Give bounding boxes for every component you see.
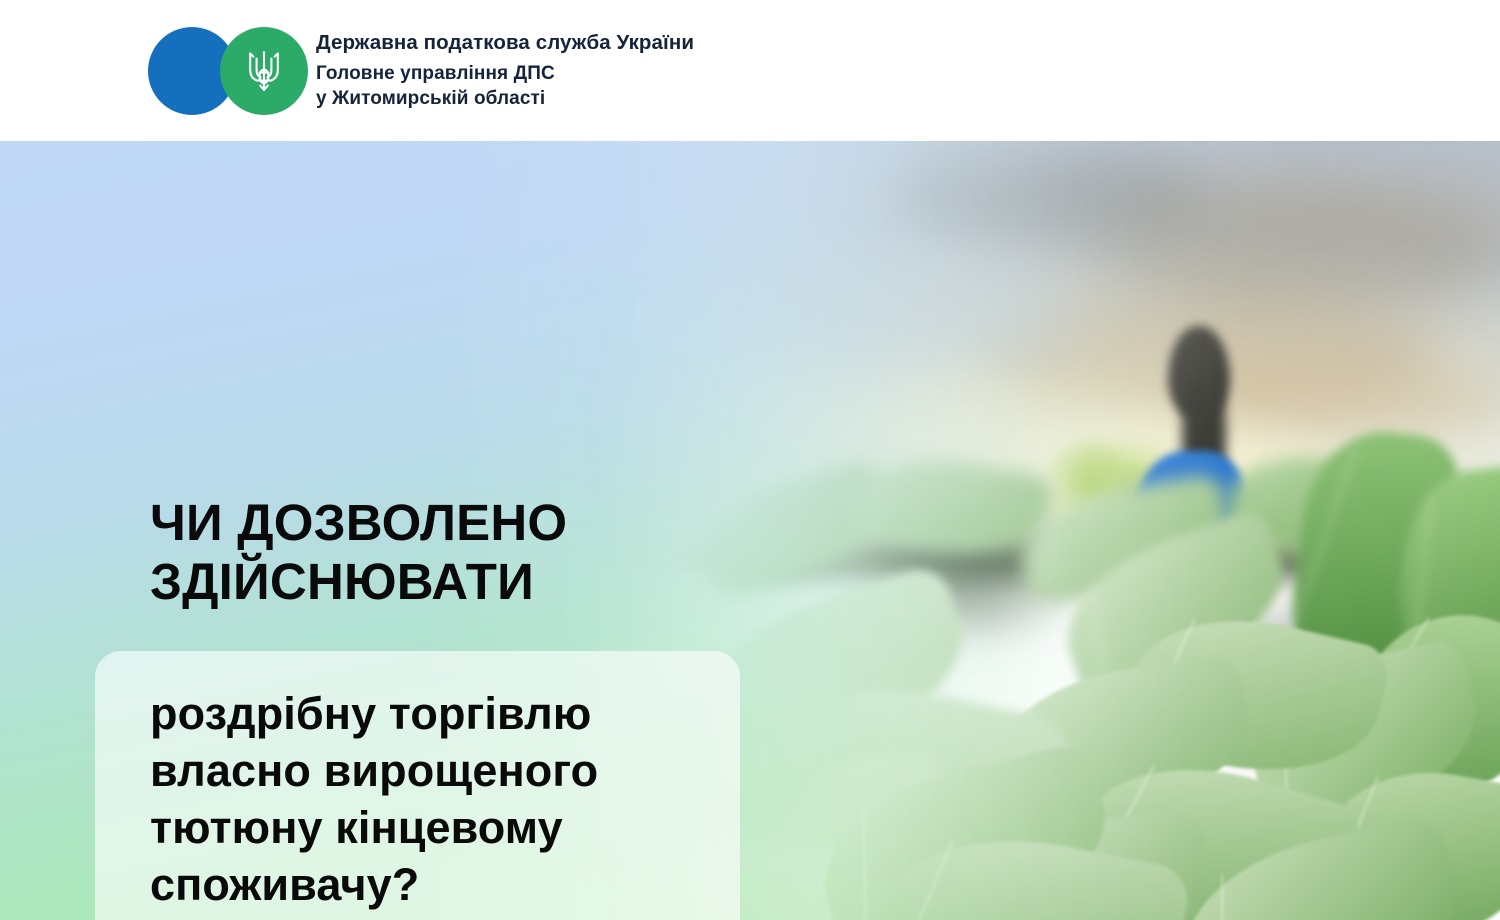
page-title: ЧИ ДОЗВОЛЕНО ЗДІЙСНЮВАТИ	[150, 493, 790, 611]
org-unit-line-2: у Житомирській області	[316, 86, 694, 111]
org-unit-line-1: Головне управління ДПС	[316, 61, 694, 86]
headline-line-2: ЗДІЙСНЮВАТИ	[150, 552, 790, 611]
hero-stage: ЧИ ДОЗВОЛЕНО ЗДІЙСНЮВАТИ роздрібну торгі…	[0, 141, 1500, 920]
poster-canvas: Державна податкова служба України Головн…	[0, 0, 1500, 920]
header-bar: Державна податкова служба України Головн…	[0, 0, 1500, 141]
question-line-2: власно вирощеного	[150, 743, 750, 800]
question-line-3: тютюну кінцевому	[150, 800, 750, 857]
dps-logo[interactable]	[148, 27, 298, 115]
trident-icon	[243, 47, 285, 95]
headline-line-1: ЧИ ДОЗВОЛЕНО	[150, 493, 790, 552]
org-identity-text: Державна податкова служба України Головн…	[316, 30, 694, 112]
question-line-4: споживачу?	[150, 857, 750, 914]
org-name: Державна податкова служба України	[316, 30, 694, 56]
question-body-text: роздрібну торгівлю власно вирощеного тют…	[150, 686, 750, 914]
question-line-1: роздрібну торгівлю	[150, 686, 750, 743]
